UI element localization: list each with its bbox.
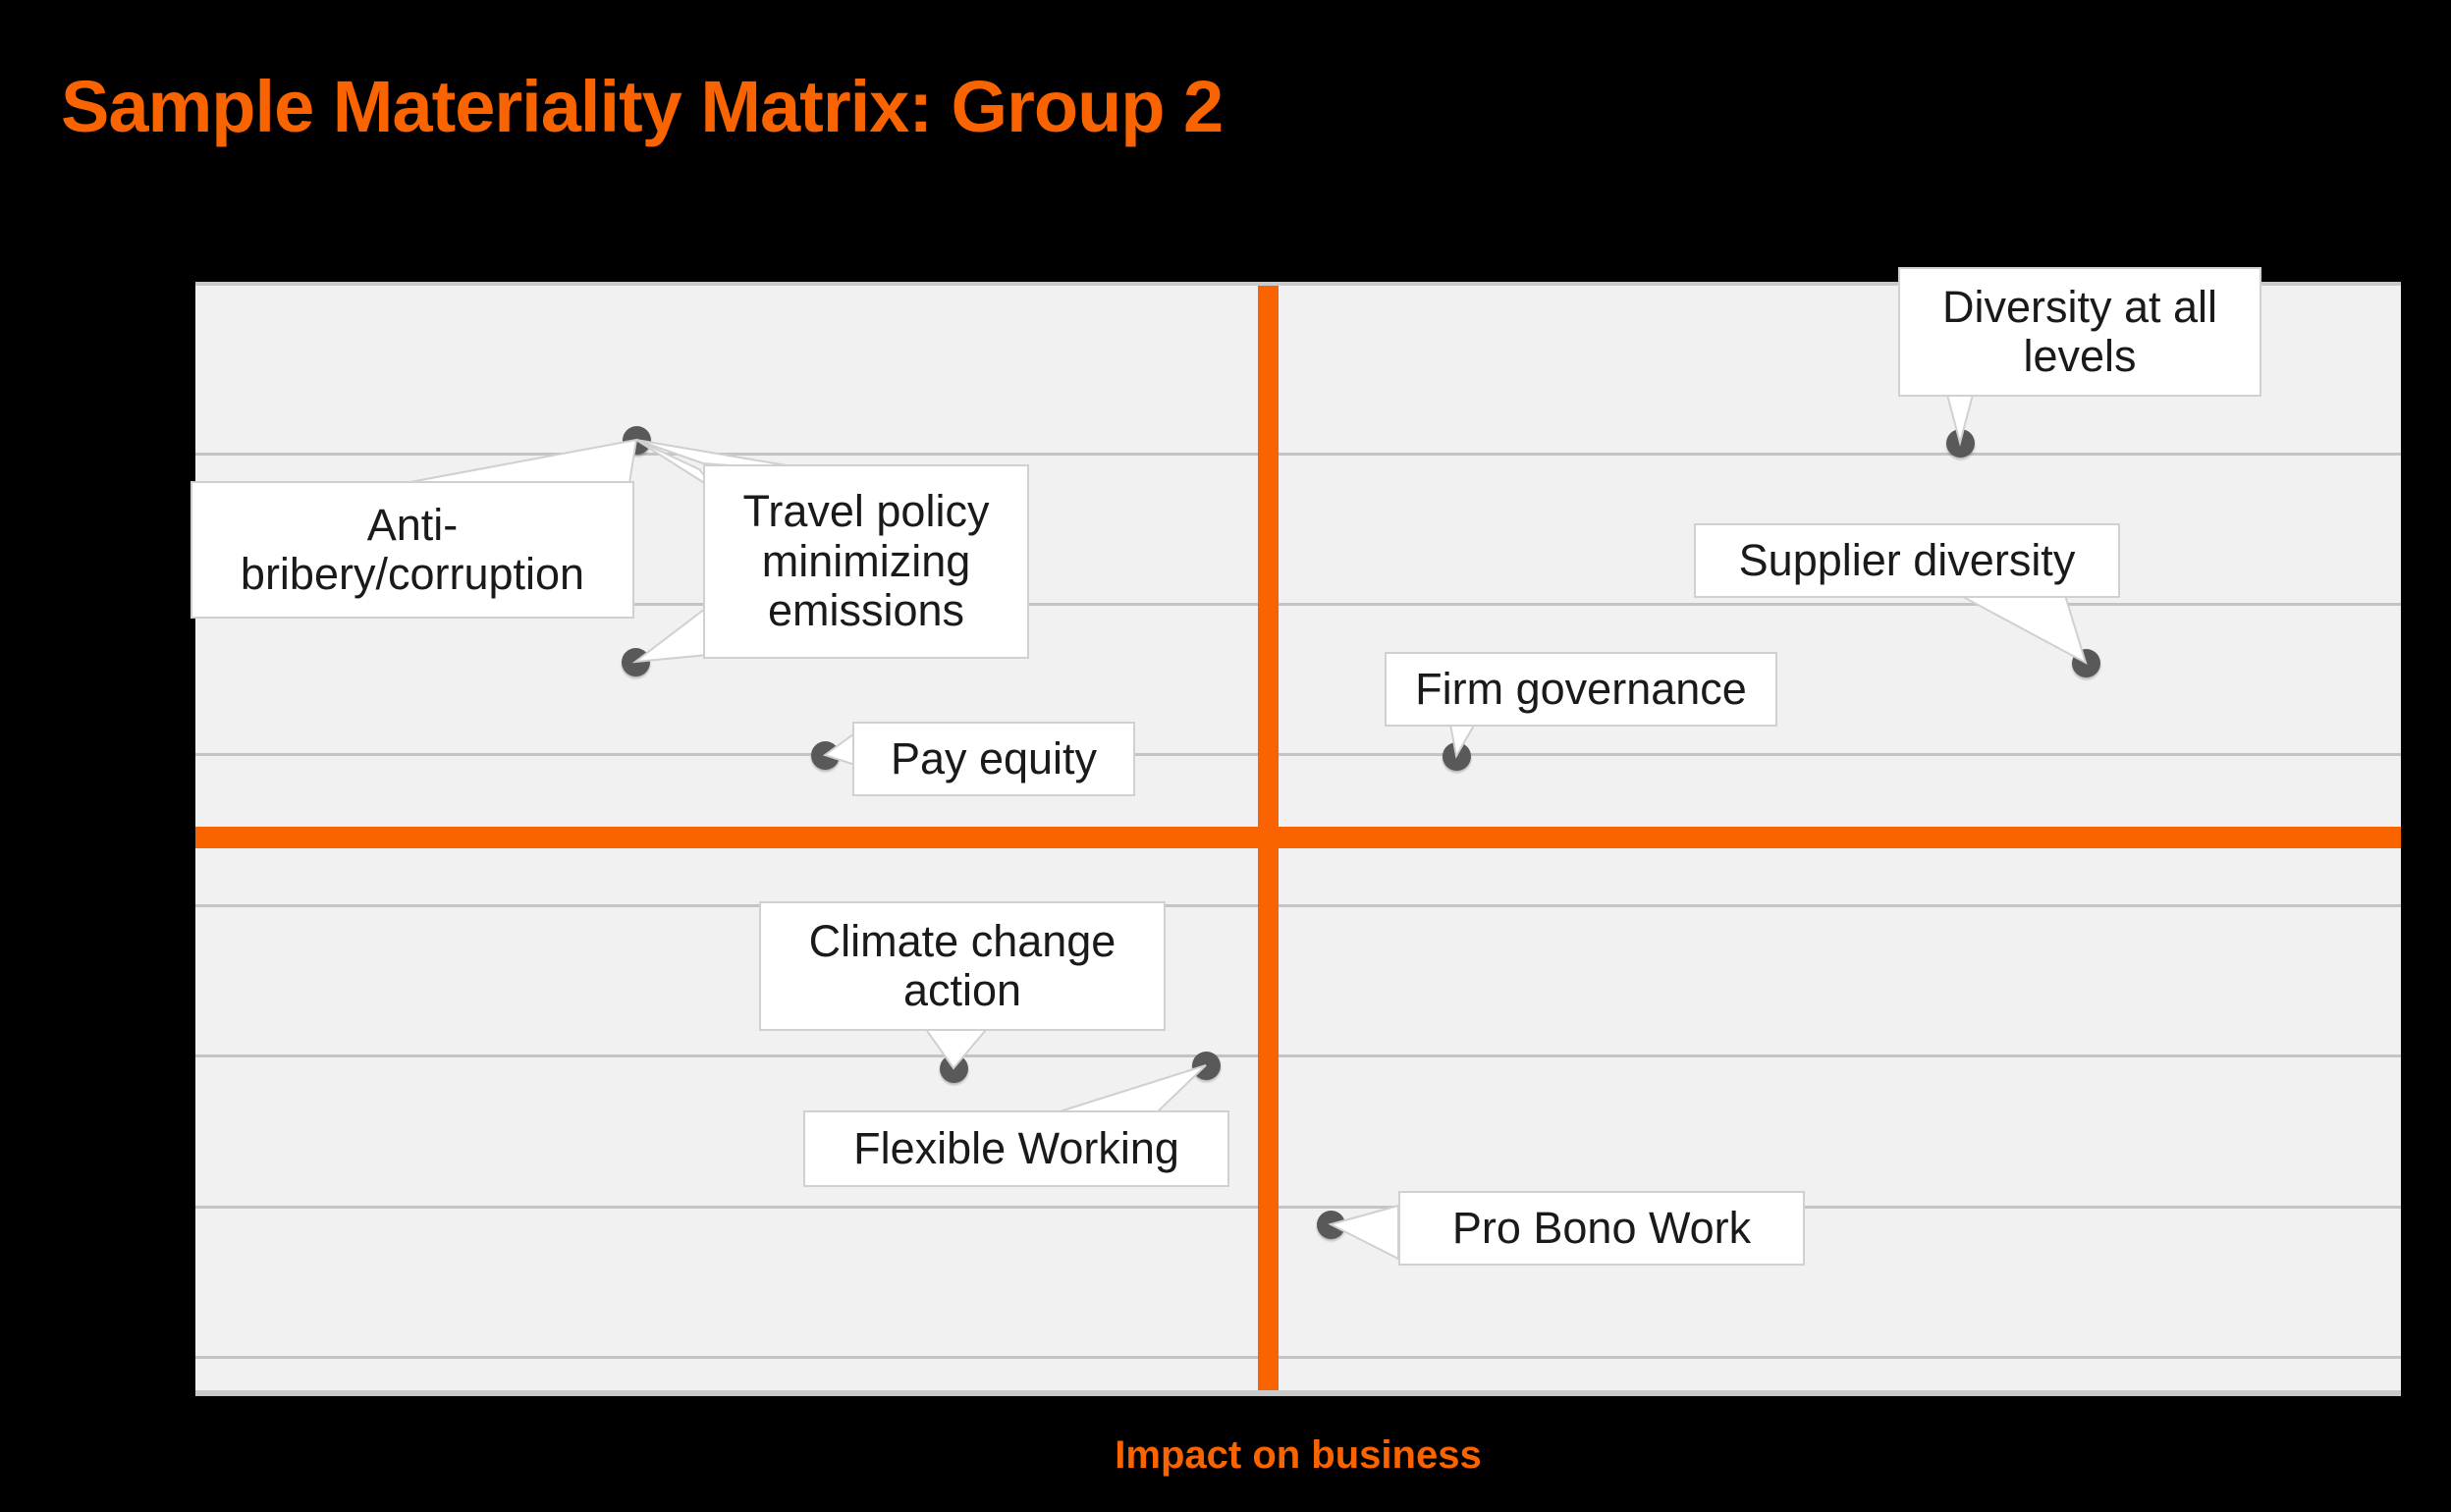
page-title: Sample Materiality Matrix: Group 2	[61, 69, 1223, 145]
callout-diversity-all-levels[interactable]: Diversity at all levels	[1898, 267, 2261, 397]
callout-pro-bono[interactable]: Pro Bono Work	[1398, 1191, 1805, 1266]
callout-firm-governance[interactable]: Firm governance	[1385, 652, 1777, 727]
gridline	[195, 904, 2401, 907]
callout-travel-policy[interactable]: Travel policy minimizing emissions	[703, 464, 1029, 659]
plot-area	[195, 282, 2401, 1396]
gridline	[195, 1356, 2401, 1359]
materiality-matrix-slide: Sample Materiality Matrix: Group 2 Impor…	[0, 0, 2451, 1512]
quadrant-divider-horizontal	[195, 827, 2401, 848]
data-point-firm-governance[interactable]	[1443, 742, 1471, 771]
data-point-pro-bono[interactable]	[1317, 1211, 1345, 1239]
data-point-anti-bribery[interactable]	[623, 426, 651, 455]
gridline	[195, 1206, 2401, 1209]
x-axis-title: Impact on business	[195, 1433, 2401, 1478]
gridline	[195, 753, 2401, 756]
data-point-flexible-working[interactable]	[1192, 1052, 1221, 1080]
data-point-diversity-all-levels[interactable]	[1946, 429, 1975, 458]
gridline	[195, 453, 2401, 456]
callout-supplier-diversity[interactable]: Supplier diversity	[1694, 523, 2120, 598]
callout-climate-change[interactable]: Climate change action	[759, 901, 1166, 1031]
callout-flexible-working[interactable]: Flexible Working	[803, 1110, 1229, 1187]
gridline	[195, 1054, 2401, 1057]
data-point-pay-equity[interactable]	[811, 741, 840, 770]
data-point-supplier-diversity[interactable]	[2072, 649, 2100, 677]
callout-anti-bribery[interactable]: Anti- bribery/corruption	[191, 481, 634, 619]
data-point-climate-change[interactable]	[940, 1054, 968, 1083]
quadrant-divider-vertical	[1258, 286, 1279, 1390]
callout-pay-equity[interactable]: Pay equity	[852, 722, 1135, 796]
data-point-travel-policy[interactable]	[622, 648, 650, 676]
